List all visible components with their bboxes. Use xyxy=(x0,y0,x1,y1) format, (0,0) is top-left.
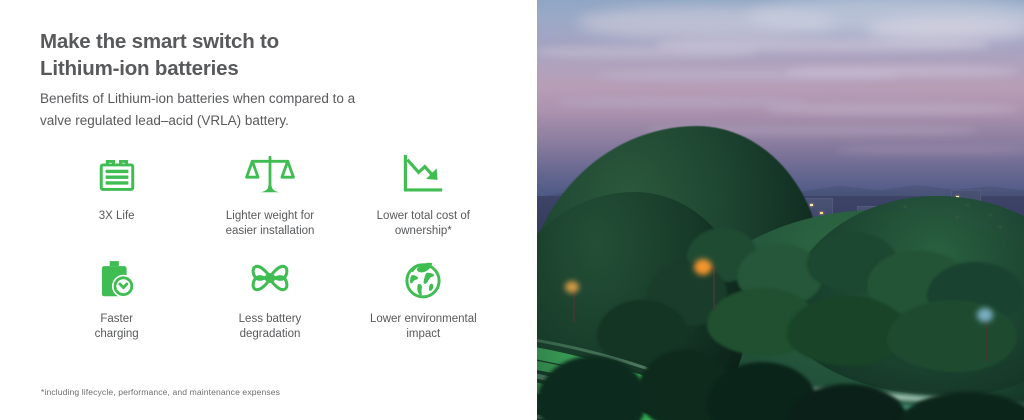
footnote-text: *including lifecycle, performance, and m… xyxy=(41,386,280,398)
content-panel: Make the smart switch to Lithium-ion bat… xyxy=(0,0,537,420)
benefits-grid: 3X Life xyxy=(40,150,500,353)
benefit-item-environmental-impact: Lower environmental impact xyxy=(347,253,500,353)
declining-chart-icon xyxy=(400,150,446,200)
benefit-item-3x-life: 3X Life xyxy=(40,150,193,250)
battery-clock-icon xyxy=(96,253,138,303)
benefit-item-lighter-weight: Lighter weight for easier installation xyxy=(193,150,346,250)
benefit-label: Lighter weight for easier installation xyxy=(226,209,315,238)
benefit-item-lower-cost: Lower total cost of ownership* xyxy=(347,150,500,250)
benefit-label: 3X Life xyxy=(99,209,135,224)
benefit-item-faster-charging: Faster charging xyxy=(40,253,193,353)
benefit-label: Less battery degradation xyxy=(239,312,302,341)
battery-icon xyxy=(96,150,138,200)
benefit-label: Faster charging xyxy=(95,312,139,341)
benefit-label: Lower environmental impact xyxy=(370,312,477,341)
page-title: Make the smart switch to Lithium-ion bat… xyxy=(40,28,500,82)
benefit-item-less-degradation: Less battery degradation xyxy=(193,253,346,353)
page-subtitle: Benefits of Lithium-ion batteries when c… xyxy=(40,88,460,132)
promo-page: Make the smart switch to Lithium-ion bat… xyxy=(0,0,1024,420)
balance-scale-icon xyxy=(245,150,295,200)
benefit-label: Lower total cost of ownership* xyxy=(377,209,470,238)
dusk-cityscape-highway-light-trails-image xyxy=(537,0,1024,420)
flower-fan-icon xyxy=(247,253,293,303)
globe-leaf-icon xyxy=(400,253,446,303)
